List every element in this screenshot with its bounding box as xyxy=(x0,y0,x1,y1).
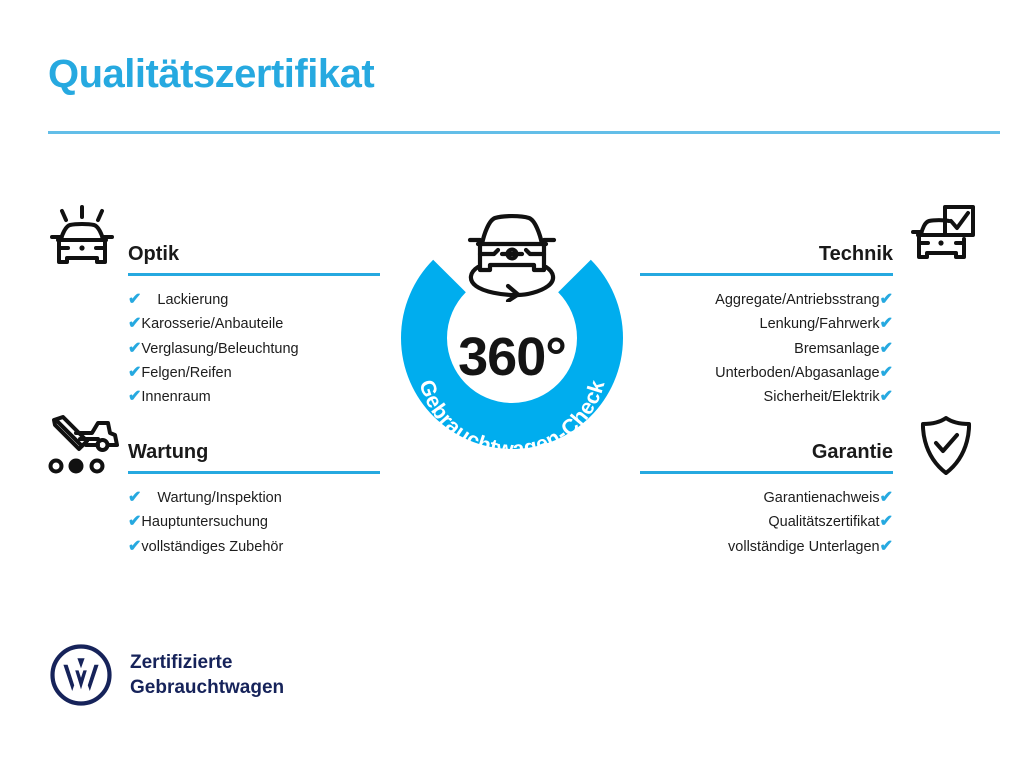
checklist-optik: ✔ Lackierung ✔ Karosserie/Anbauteile ✔ V… xyxy=(128,288,380,409)
list-item: ✔ vollständiges Zubehör xyxy=(128,535,380,559)
vw-wordmark-line2: Gebrauchtwagen xyxy=(130,675,284,700)
check-icon: ✔ xyxy=(128,389,141,405)
list-item-label: Unterboden/Abgasanlage xyxy=(715,361,879,385)
list-item-label: Garantienachweis xyxy=(764,486,880,510)
section-wartung: Wartung ✔ Wartung/Inspektion ✔ Hauptunte… xyxy=(128,428,380,575)
vw-roundel-logo xyxy=(50,644,112,706)
list-item: Lenkung/Fahrwerk ✔ xyxy=(640,312,893,336)
check-icon: ✔ xyxy=(880,539,893,555)
vw-certified-logo: Zertifizierte Gebrauchtwagen xyxy=(50,644,284,706)
section-optik: Optik ✔ Lackierung ✔ Karosserie/Anbautei… xyxy=(128,230,380,425)
check-icon: ✔ xyxy=(880,490,893,506)
list-item-label: Sicherheit/Elektrik xyxy=(764,385,880,409)
check-icon: ✔ xyxy=(128,292,141,308)
section-title: Technik xyxy=(819,243,893,266)
check-icon: ✔ xyxy=(880,514,893,530)
section-header: Technik xyxy=(640,230,893,276)
list-item-label: Innenraum xyxy=(141,385,210,409)
check-icon: ✔ xyxy=(128,514,141,530)
check-icon: ✔ xyxy=(880,341,893,357)
list-item: Bremsanlage ✔ xyxy=(640,337,893,361)
checklist-wartung: ✔ Wartung/Inspektion ✔ Hauptuntersuchung… xyxy=(128,486,380,559)
section-technik: Technik Aggregate/Antriebsstrang ✔ Lenku… xyxy=(640,230,893,425)
section-garantie: Garantie Garantienachweis ✔ Qualitätszer… xyxy=(640,428,893,575)
list-item: ✔ Lackierung xyxy=(128,288,380,312)
list-item-label: Felgen/Reifen xyxy=(141,361,231,385)
list-item: Garantienachweis ✔ xyxy=(640,486,893,510)
list-item-label: Lackierung xyxy=(157,288,228,312)
checklist-garantie: Garantienachweis ✔ Qualitätszertifikat ✔… xyxy=(640,486,893,559)
check-icon: ✔ xyxy=(880,365,893,381)
360-check-badge: Gebrauchtwagen-Check 360° xyxy=(372,196,652,486)
check-icon: ✔ xyxy=(880,292,893,308)
list-item: ✔ Felgen/Reifen xyxy=(128,361,380,385)
list-item-label: vollständiges Zubehör xyxy=(141,535,283,559)
section-underline xyxy=(128,471,380,474)
list-item: ✔ Verglasung/Beleuchtung xyxy=(128,337,380,361)
list-item: Unterboden/Abgasanlage ✔ xyxy=(640,361,893,385)
pen-car-service-icon xyxy=(46,414,122,481)
section-header: Garantie xyxy=(640,428,893,474)
shield-check-icon xyxy=(917,414,975,483)
section-title: Wartung xyxy=(128,441,208,464)
list-item-label: Lenkung/Fahrwerk xyxy=(760,312,880,336)
certificate-page: Qualitätszertifikat xyxy=(0,0,1024,768)
list-item: ✔ Karosserie/Anbauteile xyxy=(128,312,380,336)
car-rotate-360-icon xyxy=(456,202,568,302)
car-shine-icon xyxy=(46,204,118,277)
check-icon: ✔ xyxy=(128,539,141,555)
car-checkbox-icon xyxy=(911,203,977,272)
badge-number: 360° xyxy=(372,326,652,388)
list-item: Aggregate/Antriebsstrang ✔ xyxy=(640,288,893,312)
section-title: Garantie xyxy=(812,441,893,464)
section-underline xyxy=(128,273,380,276)
check-icon: ✔ xyxy=(128,490,141,506)
list-item-label: Qualitätszertifikat xyxy=(768,510,879,534)
checklist-technik: Aggregate/Antriebsstrang ✔ Lenkung/Fahrw… xyxy=(640,288,893,409)
section-header: Wartung xyxy=(128,428,380,474)
list-item-label: Bremsanlage xyxy=(794,337,879,361)
page-title: Qualitätszertifikat xyxy=(48,52,374,97)
list-item-label: vollständige Unterlagen xyxy=(728,535,880,559)
section-header: Optik xyxy=(128,230,380,276)
vw-wordmark: Zertifizierte Gebrauchtwagen xyxy=(130,650,284,700)
list-item: Qualitätszertifikat ✔ xyxy=(640,510,893,534)
list-item: ✔ Innenraum xyxy=(128,385,380,409)
list-item-label: Karosserie/Anbauteile xyxy=(141,312,283,336)
section-underline xyxy=(640,273,893,276)
list-item-label: Verglasung/Beleuchtung xyxy=(141,337,298,361)
list-item-label: Aggregate/Antriebsstrang xyxy=(715,288,879,312)
check-icon: ✔ xyxy=(880,316,893,332)
list-item-label: Wartung/Inspektion xyxy=(157,486,281,510)
title-divider xyxy=(48,131,1000,134)
section-title: Optik xyxy=(128,243,179,266)
list-item: Sicherheit/Elektrik ✔ xyxy=(640,385,893,409)
list-item: ✔ Hauptuntersuchung xyxy=(128,510,380,534)
vw-wordmark-line1: Zertifizierte xyxy=(130,650,284,675)
check-icon: ✔ xyxy=(128,365,141,381)
check-icon: ✔ xyxy=(880,389,893,405)
list-item-label: Hauptuntersuchung xyxy=(141,510,268,534)
list-item: ✔ Wartung/Inspektion xyxy=(128,486,380,510)
section-underline xyxy=(640,471,893,474)
check-icon: ✔ xyxy=(128,316,141,332)
check-icon: ✔ xyxy=(128,341,141,357)
list-item: vollständige Unterlagen ✔ xyxy=(640,535,893,559)
